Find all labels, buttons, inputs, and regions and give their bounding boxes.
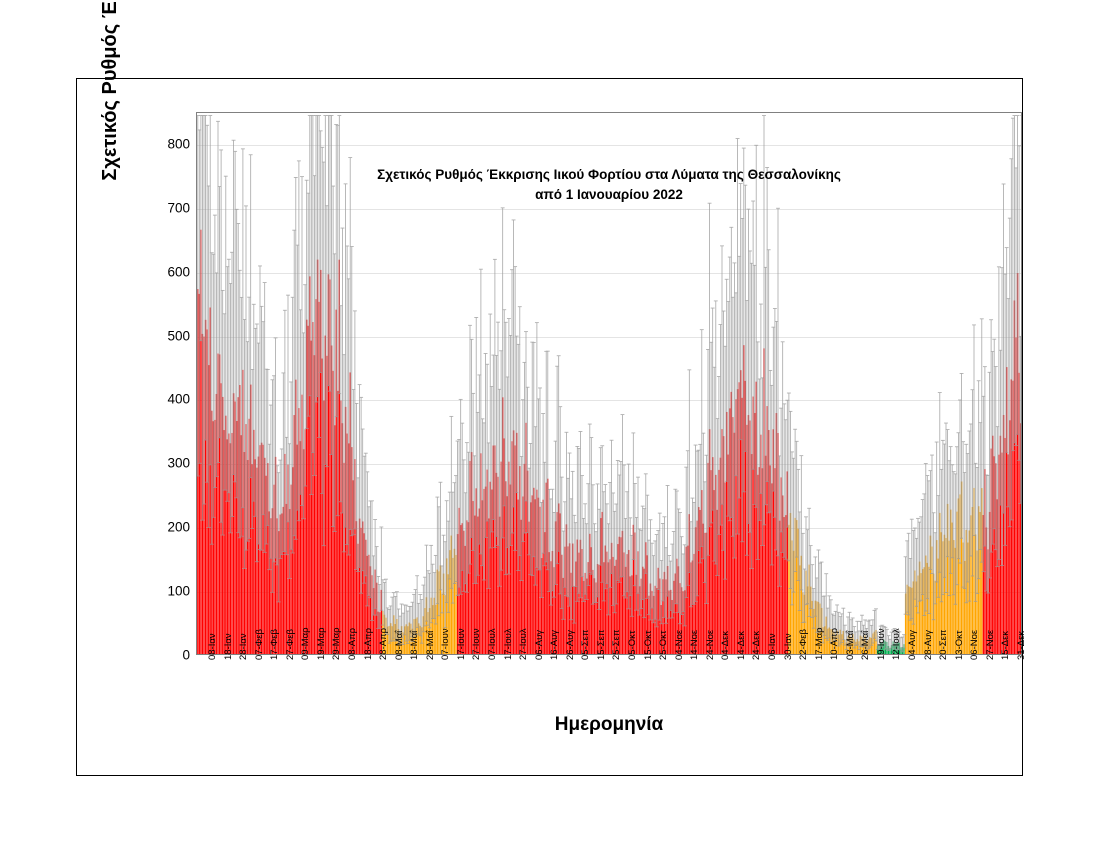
x-tick-label: 09-Μαρ — [300, 627, 311, 660]
y-tick-label: 600 — [144, 264, 190, 279]
x-tick-label: 07-Ιουλ — [487, 628, 498, 660]
x-tick-label: 14-Νοε — [689, 630, 700, 660]
y-tick-label: 300 — [144, 456, 190, 471]
bars-and-errorbars — [197, 113, 1021, 654]
x-tick-label: 26-Μαΐ — [860, 631, 871, 660]
x-tick-label: 27-Ιουλ — [518, 628, 529, 660]
x-tick-label: 17-Μαρ — [814, 627, 825, 660]
x-tick-label: 20-Σεπ — [938, 630, 949, 660]
x-tick-label: 27-Ιουν — [471, 628, 482, 660]
y-tick-label: 400 — [144, 392, 190, 407]
x-tick-label: 24-Δεκ — [751, 631, 762, 660]
y-axis-ticks: 0100200300400500600700800 — [140, 112, 190, 655]
x-tick-label: 18-Απρ — [363, 628, 374, 660]
x-tick-label: 04-Νοε — [674, 630, 685, 660]
y-tick-label: 200 — [144, 520, 190, 535]
x-tick-label: 30-Ιαν — [783, 633, 794, 660]
plot-area: Σχετικός Ρυθμός Έκκρισης Ιικού Φορτίου σ… — [196, 112, 1022, 655]
x-tick-label: 06-Αυγ — [534, 630, 545, 660]
y-tick-label: 100 — [144, 584, 190, 599]
x-tick-label: 08-Απρ — [347, 628, 358, 660]
y-tick-label: 500 — [144, 328, 190, 343]
x-tick-label: 15-Οκτ — [643, 630, 654, 660]
x-tick-label: 05-Οκτ — [627, 630, 638, 660]
x-tick-label: 27-Φεβ — [285, 629, 296, 660]
x-tick-label: 03-Μαΐ — [845, 631, 856, 660]
x-tick-label: 25-Σεπ — [611, 630, 622, 660]
y-tick-label: 0 — [144, 648, 190, 663]
x-tick-label: 14-Δεκ — [736, 631, 747, 660]
x-tick-label: 06-Νοε — [969, 630, 980, 660]
x-tick-label: 06-Ιαν — [767, 633, 778, 660]
x-tick-label: 19-Ιουν — [876, 628, 887, 660]
plot-inner: Σχετικός Ρυθμός Έκκρισης Ιικού Φορτίου σ… — [197, 113, 1021, 654]
x-tick-label: 17-Φεβ — [269, 629, 280, 660]
x-tick-label: 12-Ιουλ — [891, 628, 902, 660]
x-tick-label: 18-Μαΐ — [409, 631, 420, 660]
x-tick-label: 17-Ιουλ — [503, 628, 514, 660]
x-axis-ticks: 08-Ιαν18-Ιαν28-Ιαν07-Φεβ17-Φεβ27-Φεβ09-Μ… — [196, 658, 1022, 716]
x-tick-label: 19-Μαρ — [316, 627, 327, 660]
x-tick-label: 27-Νοε — [985, 630, 996, 660]
y-axis-title: Σχετικός Ρυθμός Έκκρισης Ιικού Φορτίου — [95, 0, 125, 200]
x-tick-label: 28-Αυγ — [923, 630, 934, 660]
x-tick-label: 31-Δεκ — [1016, 631, 1027, 660]
chart-page: Σχετικός Ρυθμός Έκκρισης Ιικού Φορτίου 0… — [0, 0, 1100, 850]
x-tick-label: 10-Απρ — [829, 628, 840, 660]
x-tick-label: 07-Ιουν — [440, 628, 451, 660]
x-tick-label: 28-Μαΐ — [425, 631, 436, 660]
x-tick-label: 22-Φεβ — [798, 629, 809, 660]
y-tick-label: 800 — [144, 136, 190, 151]
y-tick-label: 700 — [144, 200, 190, 215]
x-tick-label: 16-Αυγ — [549, 630, 560, 660]
x-tick-label: 28-Ιαν — [238, 633, 249, 660]
x-tick-label: 17-Ιουν — [456, 628, 467, 660]
x-tick-label: 28-Απρ — [378, 628, 389, 660]
x-tick-label: 25-Οκτ — [658, 630, 669, 660]
x-tick-label: 13-Οκτ — [954, 630, 965, 660]
x-tick-label: 26-Αυγ — [565, 630, 576, 660]
x-tick-label: 15-Σεπ — [596, 630, 607, 660]
x-tick-label: 29-Μαρ — [331, 627, 342, 660]
x-tick-label: 04-Δεκ — [720, 631, 731, 660]
x-tick-label: 18-Ιαν — [223, 633, 234, 660]
x-tick-label: 07-Φεβ — [254, 629, 265, 660]
x-tick-label: 15-Δεκ — [1000, 631, 1011, 660]
x-tick-label: 04-Αυγ — [907, 630, 918, 660]
x-tick-label: 05-Σεπ — [580, 630, 591, 660]
x-axis-title: Ημερομηνία — [196, 714, 1022, 736]
x-tick-label: 24-Νοε — [705, 630, 716, 660]
x-tick-label: 08-Μαΐ — [394, 631, 405, 660]
x-tick-label: 08-Ιαν — [207, 633, 218, 660]
